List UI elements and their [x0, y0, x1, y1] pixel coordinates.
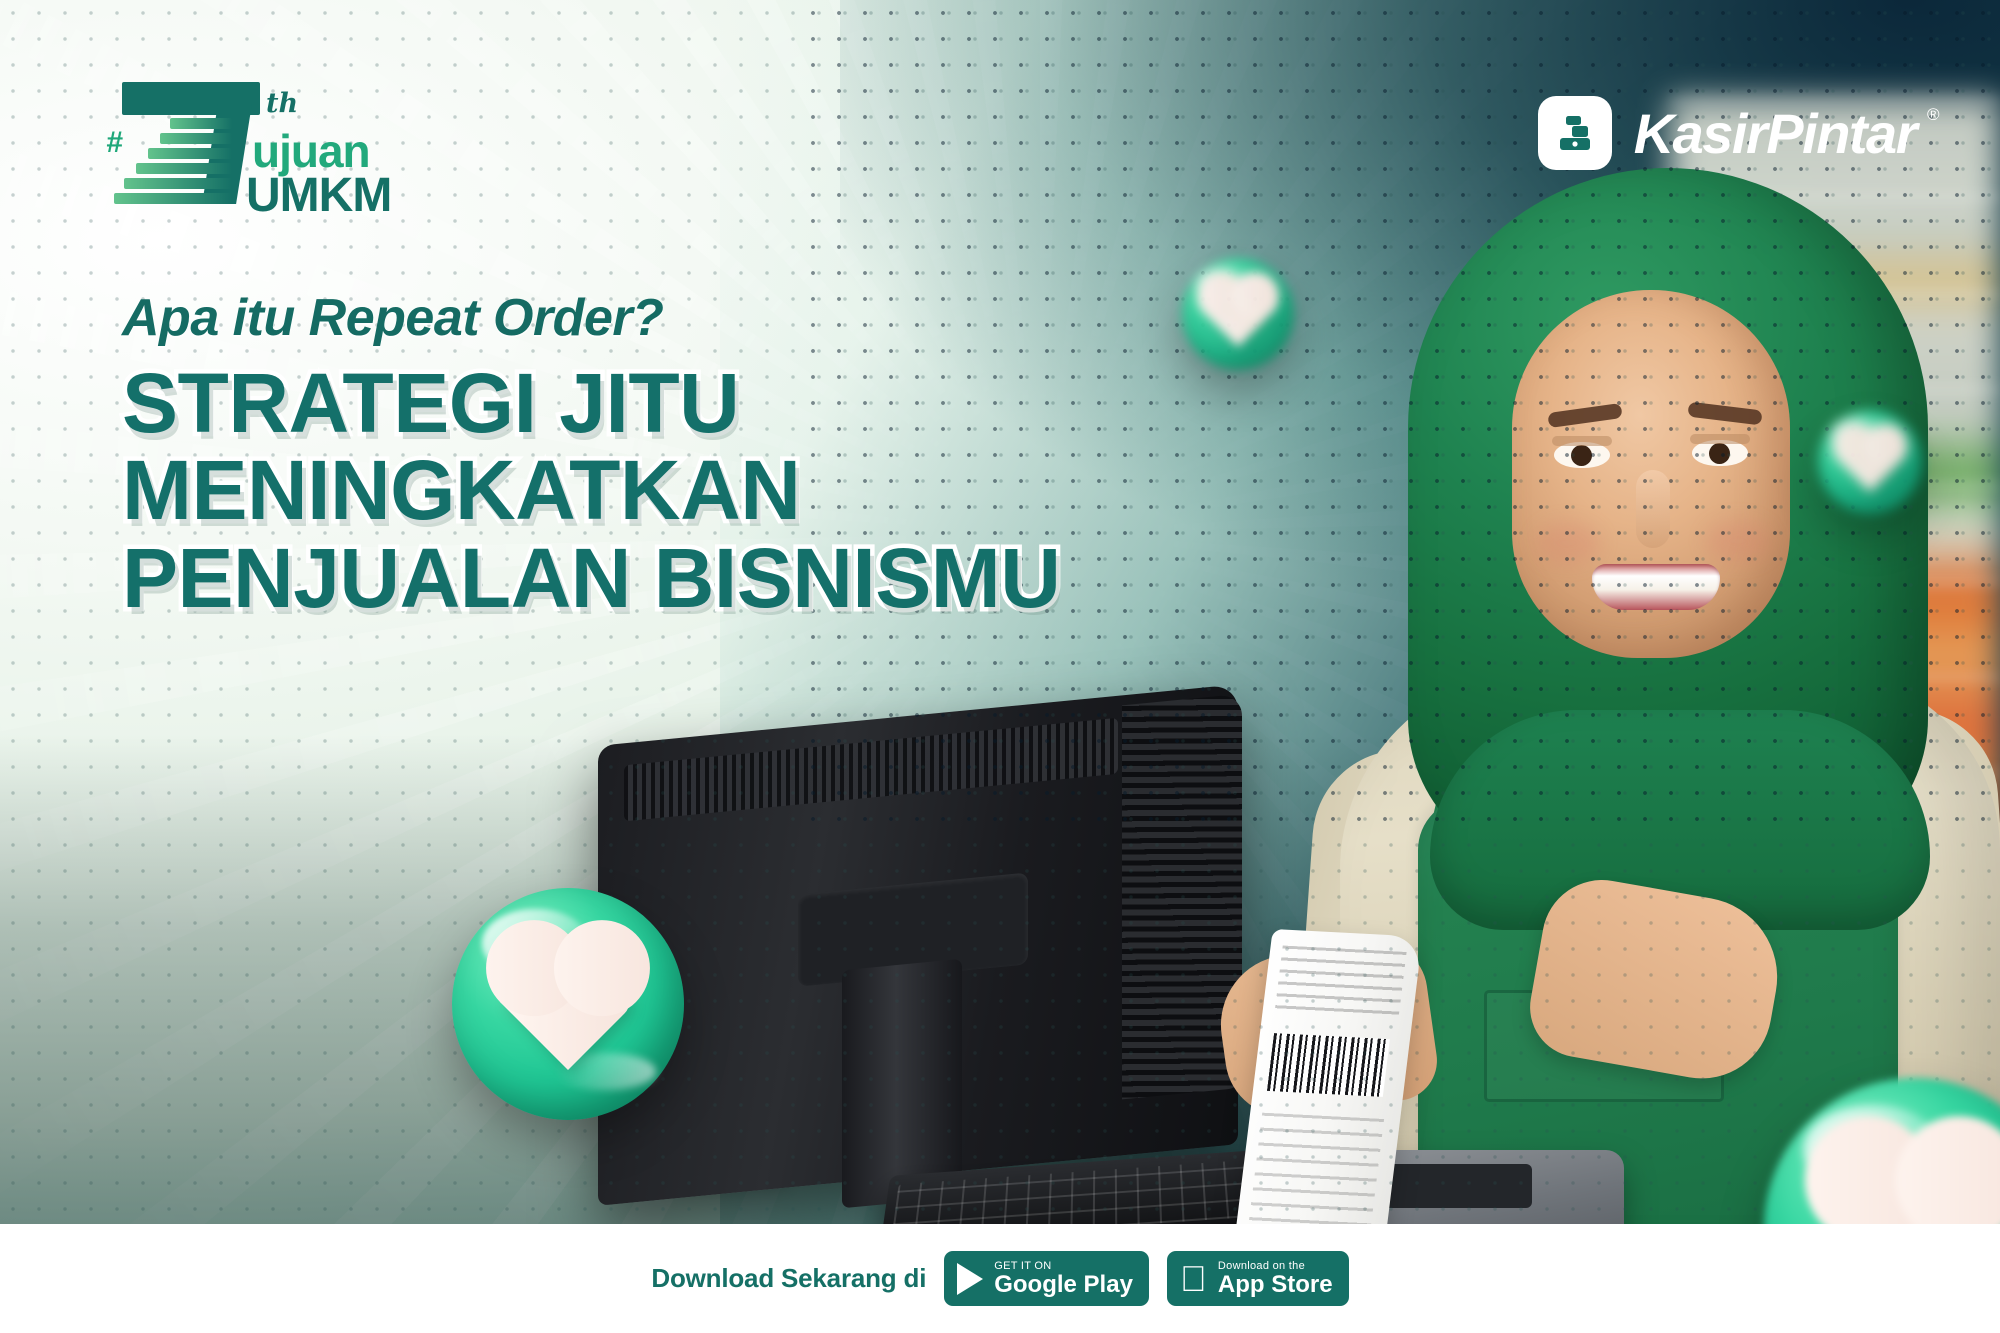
heart-bubble-main	[452, 888, 684, 1120]
umkm-logo-label: UMKM	[246, 168, 391, 223]
ordinal-suffix: th	[266, 88, 298, 119]
headline-block: Apa itu Repeat Order? STRATEGI JITU MENI…	[122, 288, 1302, 622]
google-play-badge-main: Google Play	[994, 1272, 1133, 1297]
kasirpintar-logo[interactable]: KasirPintar ®	[1538, 96, 1916, 170]
kasirpintar-wordmark: KasirPintar ®	[1634, 101, 1916, 166]
promo-banner: # th ujuan UMKM KasirPintar ® Apa itu Re…	[0, 0, 2000, 1333]
app-store-badge[interactable]:  Download on the App Store	[1167, 1251, 1349, 1306]
registered-mark: ®	[1927, 105, 1938, 125]
app-store-badge-main: App Store	[1218, 1272, 1333, 1297]
google-play-badge[interactable]: GET IT ON Google Play	[944, 1251, 1149, 1306]
google-play-triangle-icon	[957, 1263, 983, 1295]
apple-icon: 	[1180, 1261, 1207, 1297]
headline-text: STRATEGI JITU MENINGKATKAN PENJUALAN BIS…	[122, 360, 1302, 622]
download-bar: Download Sekarang di GET IT ON Google Pl…	[0, 1224, 2000, 1333]
download-label: Download Sekarang di	[651, 1263, 926, 1294]
kasirpintar-name: KasirPintar	[1634, 102, 1916, 165]
headline-line-1: STRATEGI JITU	[122, 360, 1302, 447]
headline-line-2: MENINGKATKAN	[122, 447, 1302, 534]
hash-symbol: #	[106, 126, 123, 160]
seven-steps	[114, 118, 232, 204]
headline-line-3: PENJUALAN BISNISMU	[122, 535, 1302, 622]
heart-bubble-top-right	[1818, 410, 1922, 514]
eyebrow-text: Apa itu Repeat Order?	[122, 288, 1302, 348]
seven-numeral-mark	[114, 82, 262, 204]
umkm-logo: # th ujuan UMKM	[114, 82, 414, 204]
cash-register-icon	[1538, 96, 1612, 170]
